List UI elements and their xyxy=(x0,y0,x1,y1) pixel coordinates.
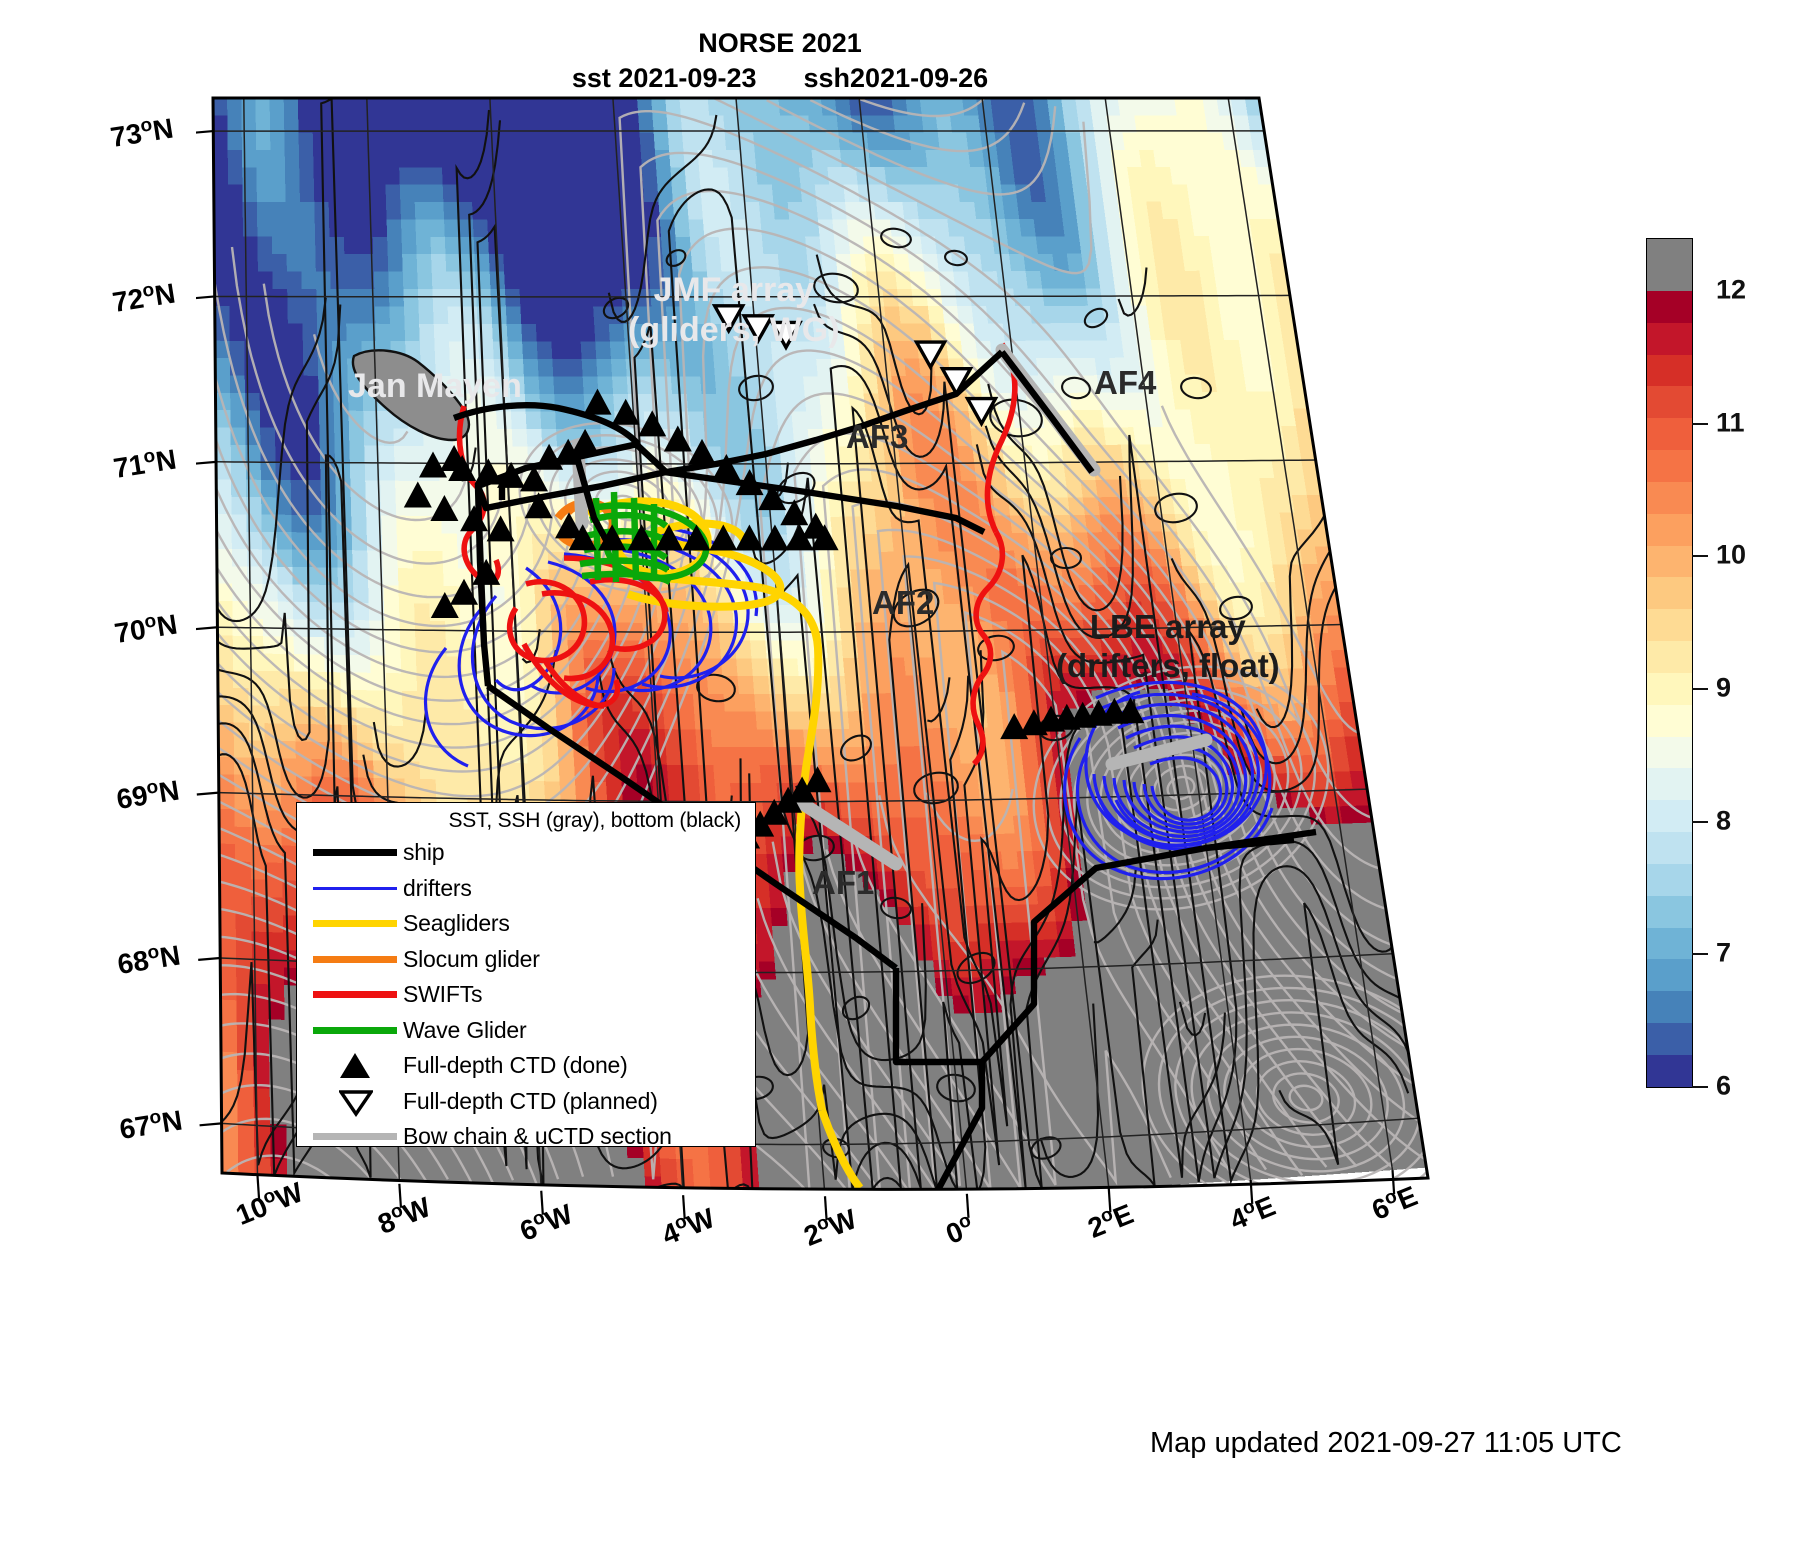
colorbar-segment xyxy=(1647,705,1692,737)
legend-key-ctd-planned xyxy=(307,1088,403,1115)
legend-item[interactable]: drifters xyxy=(307,871,745,907)
colorbar-segment xyxy=(1647,864,1692,896)
lat-hemisphere: N xyxy=(154,443,179,477)
lat-tick-label: 68oN xyxy=(115,938,182,981)
colorbar-segment xyxy=(1647,546,1692,578)
lat-tick-label: 72oN xyxy=(110,277,177,320)
colorbar-segment xyxy=(1647,577,1692,609)
colorbar-segment xyxy=(1647,896,1692,928)
colorbar-segment xyxy=(1647,959,1692,991)
legend-item[interactable]: Slocum glider xyxy=(307,942,745,978)
colorbar-over-segment xyxy=(1647,239,1692,291)
legend-item[interactable]: Full-depth CTD (done) xyxy=(307,1048,745,1084)
lat-value: 72 xyxy=(110,283,146,318)
legend-line-swatch xyxy=(313,1133,397,1140)
legend-item-label: Full-depth CTD (planned) xyxy=(403,1088,658,1115)
lat-hemisphere: N xyxy=(151,113,176,147)
legend-key-line xyxy=(307,849,403,856)
colorbar-segment xyxy=(1647,673,1692,705)
legend-line-swatch xyxy=(313,849,397,856)
legend-line-swatch xyxy=(313,991,397,998)
legend-item[interactable]: Wave Glider xyxy=(307,1013,745,1049)
legend-item[interactable]: SWIFTs xyxy=(307,977,745,1013)
colorbar-tick xyxy=(1692,821,1708,823)
legend-item-label: drifters xyxy=(403,875,472,902)
legend-key-line xyxy=(307,991,403,998)
legend-key-line xyxy=(307,956,403,963)
colorbar-segment xyxy=(1647,928,1692,960)
legend-item[interactable]: Full-depth CTD (planned) xyxy=(307,1084,745,1120)
colorbar-segment xyxy=(1647,291,1692,323)
colorbar-segment xyxy=(1647,450,1692,482)
colorbar-tick-label: 7 xyxy=(1716,938,1731,969)
colorbar-tick-label: 8 xyxy=(1716,805,1731,836)
colorbar-segment xyxy=(1647,386,1692,418)
colorbar-tick-label: 12 xyxy=(1716,275,1746,306)
colorbar[interactable] xyxy=(1646,238,1693,1088)
colorbar-tick-label: 11 xyxy=(1716,407,1745,438)
figure-root: NORSE 2021 sst 2021-09-23 ssh2021-09-26 xyxy=(0,0,1800,1560)
legend-line-swatch xyxy=(313,956,397,963)
lat-hemisphere: N xyxy=(156,774,181,808)
figure-title: NORSE 2021 sst 2021-09-23 ssh2021-09-26 xyxy=(0,26,1560,95)
colorbar-tick-label: 6 xyxy=(1716,1071,1731,1102)
colorbar-segment xyxy=(1647,641,1692,673)
lat-hemisphere: N xyxy=(152,278,177,312)
legend-item-label: Seagliders xyxy=(403,910,510,937)
lat-value: 67 xyxy=(117,1110,153,1145)
lat-hemisphere: N xyxy=(158,940,183,974)
ctd-done-icon xyxy=(340,1053,370,1078)
lat-value: 68 xyxy=(116,945,152,980)
colorbar-tick xyxy=(1692,953,1708,955)
legend-item[interactable]: Seagliders xyxy=(307,906,745,942)
lat-tick-label: 71oN xyxy=(111,442,178,485)
legend-line-swatch xyxy=(313,920,397,927)
colorbar-segment xyxy=(1647,1023,1692,1055)
colorbar-tick xyxy=(1692,688,1708,690)
legend-line-swatch xyxy=(313,887,397,890)
legend-line-swatch xyxy=(313,1027,397,1034)
legend-item-label: SWIFTs xyxy=(403,981,482,1008)
legend-item-label: ship xyxy=(403,839,444,866)
ctd-planned-icon xyxy=(339,1088,371,1115)
lat-hemisphere: N xyxy=(155,609,180,643)
colorbar-segment xyxy=(1647,482,1692,514)
legend-item-label: Slocum glider xyxy=(403,946,540,973)
lat-hemisphere: N xyxy=(159,1105,184,1139)
colorbar-segment xyxy=(1647,323,1692,355)
legend-item-label: Bow chain & uCTD section xyxy=(403,1123,672,1150)
colorbar-segment xyxy=(1647,355,1692,387)
colorbar-tick xyxy=(1692,1086,1708,1088)
legend-item[interactable]: Bow chain & uCTD section xyxy=(307,1119,745,1155)
colorbar-tick-label: 9 xyxy=(1716,673,1731,704)
colorbar-tick xyxy=(1692,423,1708,425)
legend-header: SST, SSH (gray), bottom (black) xyxy=(307,809,745,833)
legend-key-line xyxy=(307,1133,403,1140)
colorbar-segment xyxy=(1647,609,1692,641)
colorbar-segment xyxy=(1647,514,1692,546)
lat-tick-label: 69oN xyxy=(114,773,181,816)
colorbar-segment xyxy=(1647,768,1692,800)
colorbar-segment xyxy=(1647,832,1692,864)
colorbar-segment xyxy=(1647,800,1692,832)
colorbar-segment xyxy=(1647,418,1692,450)
legend-key-line xyxy=(307,920,403,927)
lat-value: 69 xyxy=(114,779,150,814)
lat-tick-label: 73oN xyxy=(108,111,175,154)
map-updated-text: Map updated 2021-09-27 11:05 UTC xyxy=(1150,1427,1622,1460)
legend-rows: shipdriftersSeaglidersSlocum gliderSWIFT… xyxy=(307,835,745,1155)
legend-key-ctd-done xyxy=(307,1053,403,1078)
colorbar-tick xyxy=(1692,555,1708,557)
lat-tick-label: 70oN xyxy=(113,607,180,650)
legend-item-label: Wave Glider xyxy=(403,1017,526,1044)
legend-item-label: Full-depth CTD (done) xyxy=(403,1052,628,1079)
lat-tick-label: 67oN xyxy=(117,1104,184,1147)
legend-key-line xyxy=(307,1027,403,1034)
lat-value: 71 xyxy=(111,448,147,483)
legend-item[interactable]: ship xyxy=(307,835,745,871)
colorbar-segment xyxy=(1647,737,1692,769)
legend-key-line xyxy=(307,887,403,890)
colorbar-segment xyxy=(1647,991,1692,1023)
title-main: NORSE 2021 xyxy=(0,26,1560,61)
map-legend[interactable]: SST, SSH (gray), bottom (black) shipdrif… xyxy=(296,802,756,1147)
colorbar-tick-label: 10 xyxy=(1716,540,1746,571)
colorbar-segment xyxy=(1647,1055,1692,1087)
